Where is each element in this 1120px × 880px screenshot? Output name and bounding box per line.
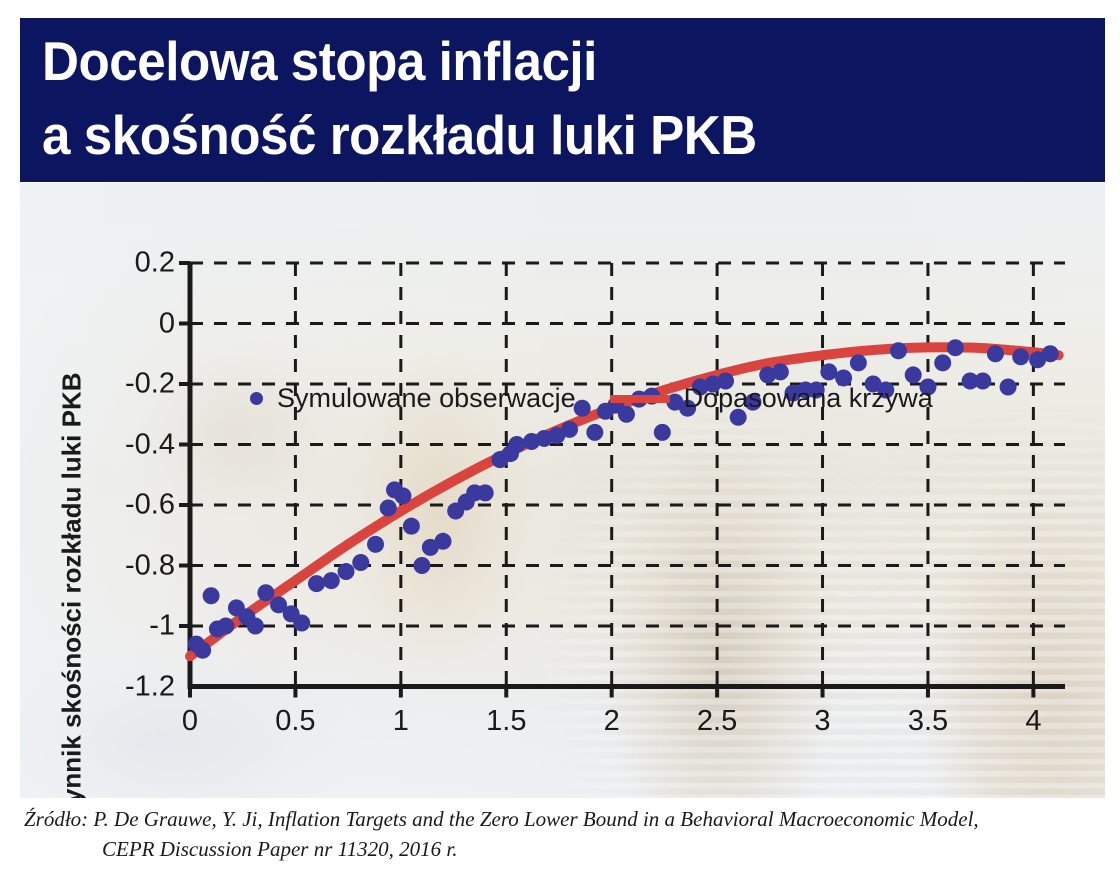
y-tick-label: -0.6 [50,489,175,522]
y-tick-label: -1 [50,610,175,643]
scatter-point [561,421,578,438]
scatter-point [394,487,411,504]
chart-legend: Symulowane obserwacje Dopasowana krzywa [250,383,933,414]
x-tick-label: 2.5 [697,705,737,738]
title-banner: Docelowa stopa inflacji a skośność rozkł… [20,18,1105,182]
legend-label-fitted-curve: Dopasowana krzywa [684,383,933,414]
scatter-point [352,554,369,571]
scatter-point [247,618,264,635]
legend-entry-fitted-curve: Dopasowana krzywa [610,383,933,414]
x-tick-label: 1.5 [486,705,526,738]
axis-lines [188,263,1066,687]
scatter-point [934,354,951,371]
scatter-point [820,363,837,380]
scatter-point [586,424,603,441]
dot-marker-icon [250,392,263,405]
x-tick-label: 2 [604,705,620,738]
scatter-point [1012,348,1029,365]
scatter-point [947,339,964,356]
x-tick-label: 0.5 [275,705,315,738]
scatter-point [338,563,355,580]
y-tick-label: -0.2 [50,368,175,401]
scatter-point [772,363,789,380]
y-tick-label: -0.4 [50,428,175,461]
source-note-line-1: Źródło: P. De Grauwe, Y. Ji, Inflation T… [24,804,1105,834]
line-marker-icon [610,395,670,403]
scatter-point [987,345,1004,362]
scatter-point [203,587,220,604]
page-title-line-1: Docelowa stopa inflacji [42,24,1031,98]
y-tick-label: 0 [50,307,175,340]
scatter-point [905,366,922,383]
scatter-point [413,557,430,574]
scatter-point [367,536,384,553]
scatter-point [308,575,325,592]
y-tick-label: -1.2 [50,670,175,703]
x-tick-label: 3.5 [908,705,948,738]
x-tick-label: 1 [393,705,409,738]
scatter-point [435,533,452,550]
gridlines [190,263,1065,687]
scatter-point [1000,379,1017,396]
scatter-point [403,518,420,535]
x-tick-label: 4 [1025,705,1041,738]
infographic-figure: Docelowa stopa inflacji a skośność rozkł… [0,0,1120,880]
scatter-point [380,500,397,517]
scatter-point [217,618,234,635]
scatter-point [974,372,991,389]
chart-area: Symulowane obserwacje Dopasowana krzywa … [20,183,1105,798]
scatter-point [508,436,525,453]
scatter-point [1042,345,1059,362]
axis-ticks [179,263,1033,698]
y-tick-label: 0.2 [50,247,175,280]
y-tick-label: -0.8 [50,549,175,582]
scatter-point [850,354,867,371]
x-tick-label: 0 [182,705,198,738]
legend-label-observations: Symulowane obserwacje [277,383,576,414]
scatter-point [890,342,907,359]
scatter-point [293,614,310,631]
scatter-point [477,484,494,501]
source-note-line-2: CEPR Discussion Paper nr 11320, 2016 r. [24,834,1105,864]
page-title-line-2: a skośność rozkładu luki PKB [42,98,1031,172]
scatter-point [323,572,340,589]
scatter-point [257,584,274,601]
legend-entry-observations: Symulowane obserwacje [250,383,576,414]
x-tick-label: 3 [814,705,830,738]
source-note: Źródło: P. De Grauwe, Y. Ji, Inflation T… [20,800,1105,868]
scatter-point [654,424,671,441]
scatter-point [194,642,211,659]
